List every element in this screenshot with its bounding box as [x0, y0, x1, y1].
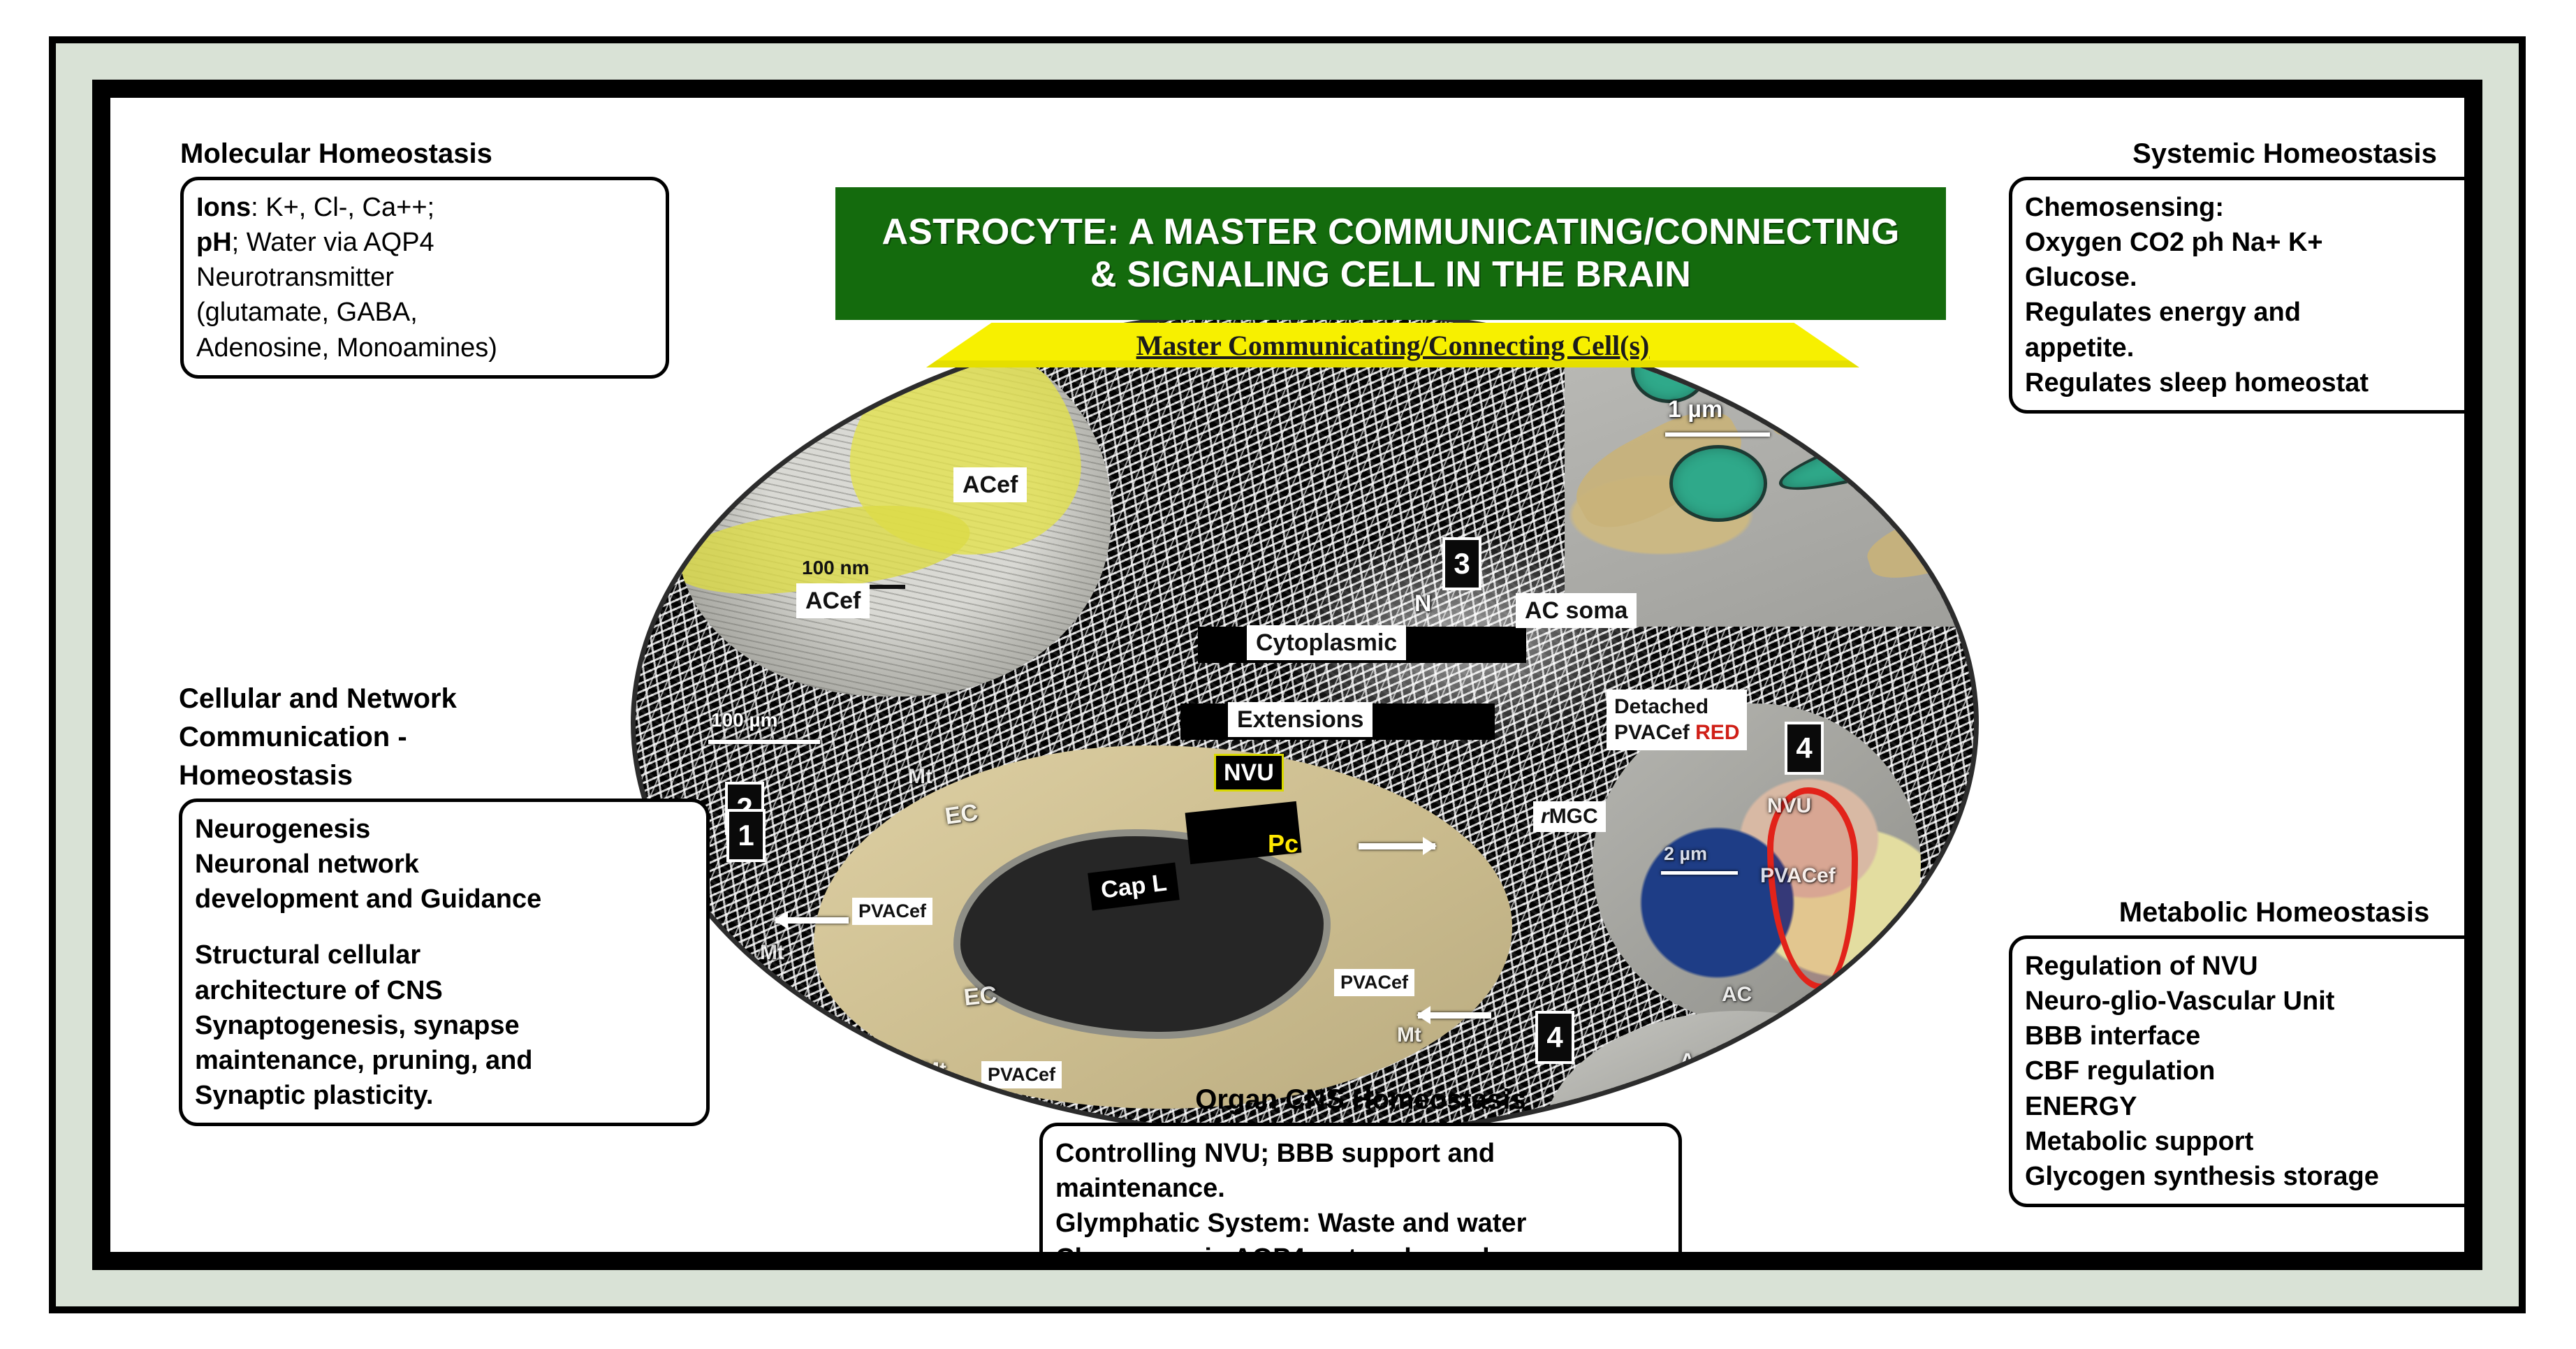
label-ap: Ap [1680, 1049, 1708, 1073]
label-mt-2: Mt [1397, 1023, 1421, 1047]
metabolic-line-6: Metabolic support [2025, 1124, 2464, 1159]
label-pericyte: Pc [1268, 829, 1298, 859]
cellular-g1-line-1: Neurogenesis [195, 812, 694, 847]
scalebar-100um-rule [708, 740, 820, 744]
metabolic-line-1: Regulation of NVU [2025, 949, 2464, 984]
section-cellular-network-communication: Cellular and Network Communication - Hom… [179, 683, 710, 1126]
label-detached-pvacef: Detached PVACef RED [1607, 690, 1747, 750]
panel-nvu-rmgc [1593, 703, 1921, 1025]
cellular-g2-line-3: Synaptogenesis, synapse [195, 1008, 694, 1043]
molecular-heading: Molecular Homeostasis [180, 138, 669, 170]
scalebar-2um-label: 2 µm [1664, 843, 1707, 865]
title-line-2: & SIGNALING CELL IN THE BRAIN [1090, 254, 1691, 296]
scalebar-100nm-label: 100 nm [802, 557, 870, 579]
ribbon-text: Master Communicating/Connecting Cell(s) [1136, 329, 1650, 362]
label-ac-soma: AC soma [1516, 593, 1637, 628]
panel-capillary-nvu-em [814, 745, 1512, 1109]
systemic-line-5: appetite. [2025, 330, 2464, 365]
label-acef-2: ACef [953, 467, 1027, 502]
organ-heading: Organ CNS Homeostasis [1039, 1084, 1682, 1116]
scalebar-100um-label: 100 µm [711, 709, 778, 731]
metabolic-heading: Metabolic Homeostasis [2009, 897, 2464, 928]
figure-green-band: N 100 nm 100 µm 1 µm 2 µm ACef ACef ACef… [56, 43, 2519, 1306]
section-organ-cns-homeostasis: Organ CNS Homeostasis Controlling NVU; B… [1039, 1084, 1682, 1252]
metabolic-line-7: Glycogen synthesis storage [2025, 1159, 2464, 1194]
section-metabolic-homeostasis: Metabolic Homeostasis Regulation of NVU … [2009, 897, 2464, 1207]
molecular-line-2: pH; Water via AQP4 [196, 225, 653, 260]
marker-4-lower: 4 [1535, 1011, 1574, 1064]
detached-line-1: Detached [1614, 694, 1739, 720]
label-pvacef-e: PVACef [1760, 864, 1836, 888]
systemic-line-2: Oxygen CO2 ph Na+ K+ [2025, 225, 2464, 260]
label-ec-2: EC [963, 982, 998, 1012]
systemic-box: Chemosensing: Oxygen CO2 ph Na+ K+ Gluco… [2009, 177, 2464, 414]
cellular-g2-line-2: architecture of CNS [195, 973, 694, 1008]
label-nvu-white: NVU [1767, 794, 1811, 818]
arrow-pvacef-left [775, 917, 849, 924]
systemic-line-3: Glucose. [2025, 260, 2464, 295]
cellular-heading-line-2: Communication - [179, 722, 710, 753]
figure-outer-frame: N 100 nm 100 µm 1 µm 2 µm ACef ACef ACef… [49, 36, 2526, 1313]
molecular-line-3: Neurotransmitter [196, 260, 653, 295]
axon-profile [1669, 445, 1767, 522]
label-pvacef-b: PVACef [852, 898, 932, 925]
label-mt-3: Mt [922, 1058, 946, 1082]
systemic-heading: Systemic Homeostasis [2009, 138, 2464, 170]
metabolic-line-4: CBF regulation [2025, 1053, 2464, 1088]
figure-title-banner: ASTROCYTE: A MASTER COMMUNICATING/CONNEC… [835, 187, 1946, 320]
label-ec-1: EC [944, 799, 980, 831]
label-mt-4: Mt [760, 941, 784, 965]
molecular-line-4: (glutamate, GABA, [196, 295, 653, 330]
systemic-line-4: Regulates energy and [2025, 295, 2464, 330]
label-acef-edge: ef [631, 468, 654, 499]
metabolic-line-2: Neuro-glio-Vascular Unit [2025, 984, 2464, 1019]
label-ac: AC [1722, 983, 1752, 1007]
detached-line-2: PVACef RED [1614, 720, 1739, 746]
master-communicating-ribbon: Master Communicating/Connecting Cell(s) [926, 323, 1859, 367]
cellular-g2-line-5: Synaptic plasticity. [195, 1078, 694, 1113]
metabolic-line-5: ENERGY [2025, 1089, 2464, 1124]
molecular-line-5: Adenosine, Monoamines) [196, 330, 653, 365]
organ-line-1: Controlling NVU; BBB support and [1055, 1136, 1666, 1171]
section-systemic-homeostasis: Systemic Homeostasis Chemosensing: Oxyge… [2009, 138, 2464, 414]
cellular-box: Neurogenesis Neuronal network developmen… [179, 799, 710, 1126]
scalebar-2um-rule [1661, 871, 1738, 875]
arrow-pvacef-right [1418, 1012, 1491, 1019]
title-line-1: ASTROCYTE: A MASTER COMMUNICATING/CONNEC… [881, 211, 1899, 254]
systemic-line-1: Chemosensing: [2025, 190, 2464, 225]
label-pre-synapse: Pre Synapse [643, 396, 803, 431]
organ-box: Controlling NVU; BBB support and mainten… [1039, 1123, 1682, 1252]
label-mt-1: Mt [908, 765, 932, 789]
marker-3: 3 [1442, 537, 1481, 590]
metabolic-box: Regulation of NVU Neuro-glio-Vascular Un… [2009, 935, 2464, 1207]
figure-inner-frame: N 100 nm 100 µm 1 µm 2 µm ACef ACef ACef… [92, 80, 2482, 1270]
axon-profile [1900, 452, 1979, 525]
label-extensions: Extensions [1228, 702, 1373, 737]
scalebar-1um-rule [1665, 432, 1770, 437]
cellular-g1-line-3: development and Guidance [195, 882, 694, 917]
cellular-g2-line-4: maintenance, pruning, and [195, 1043, 694, 1078]
marker-1: 1 [726, 809, 766, 862]
scalebar-1um-label: 1 µm [1668, 396, 1722, 423]
organ-line-4: Clearance via AQP4 water channel. [1055, 1241, 1666, 1252]
organ-line-3: Glymphatic System: Waste and water [1055, 1206, 1666, 1241]
molecular-box: Ions: K+, Cl-, Ca++; pH; Water via AQP4 … [180, 177, 669, 379]
capillary-lumen [953, 829, 1331, 1039]
cellular-g2-line-1: Structural cellular [195, 938, 694, 972]
label-acef-3: ACef [796, 583, 870, 618]
panel-axon-em [1565, 347, 1979, 627]
cellular-heading-line-1: Cellular and Network [179, 683, 710, 715]
cellular-heading-line-3: Homeostasis [179, 760, 710, 792]
panel-synapse-em [678, 333, 1111, 697]
label-rmgc: rMGC [1533, 801, 1606, 832]
molecular-line-1: Ions: K+, Cl-, Ca++; [196, 190, 653, 225]
label-pvacef-c: PVACef [1334, 969, 1414, 996]
marker-4-right: 4 [1785, 722, 1824, 775]
arrow-pericyte [1359, 843, 1435, 849]
organ-line-2: maintenance. [1055, 1171, 1666, 1206]
metabolic-line-3: BBB interface [2025, 1019, 2464, 1053]
figure-canvas: N 100 nm 100 µm 1 µm 2 µm ACef ACef ACef… [110, 98, 2464, 1252]
label-cytoplasmic: Cytoplasmic [1247, 625, 1406, 660]
section-molecular-homeostasis: Molecular Homeostasis Ions: K+, Cl-, Ca+… [180, 138, 669, 379]
label-nvu-chip: NVU [1214, 754, 1284, 792]
cellular-g1-line-2: Neuronal network [195, 847, 694, 882]
systemic-line-6: Regulates sleep homeostat [2025, 365, 2464, 400]
nucleus-label: N [1414, 590, 1432, 618]
astrocyte-micrograph-montage: N 100 nm 100 µm 1 µm 2 µm ACef ACef ACef… [631, 307, 1979, 1139]
